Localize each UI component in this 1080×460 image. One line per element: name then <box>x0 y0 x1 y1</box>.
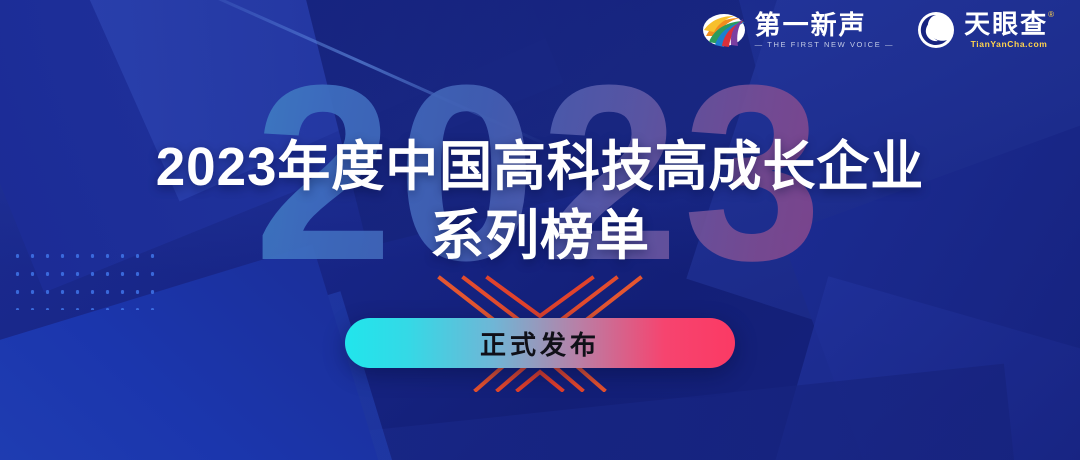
logo-diyixinsheng-name: 第一新声 <box>755 12 894 38</box>
promo-banner: 2023 第一新声 — THE FI <box>0 0 1080 460</box>
release-status-label: 正式发布 <box>480 325 600 362</box>
logo-diyixinsheng-tagline: — THE FIRST NEW VOICE — <box>755 41 894 49</box>
logo-tianyancha[interactable]: 天眼查 ® TianYanCha.com <box>916 10 1054 50</box>
logo-tianyancha-tagline: TianYanCha.com <box>964 40 1054 49</box>
title-line-1: 2023年度中国高科技高成长企业 <box>11 133 1069 202</box>
release-status-button[interactable]: 正式发布 <box>345 318 735 368</box>
tianyancha-eye-icon <box>916 10 956 50</box>
diyixinsheng-swirl-icon <box>701 10 747 50</box>
logo-bar: 第一新声 — THE FIRST NEW VOICE — 天眼查 ® TianY… <box>701 10 1054 50</box>
registered-trademark-icon: ® <box>1048 11 1054 19</box>
title-line-2: 系列榜单 <box>0 202 1080 271</box>
page-title: 2023年度中国高科技高成长企业 系列榜单 <box>0 133 1080 270</box>
logo-diyixinsheng[interactable]: 第一新声 — THE FIRST NEW VOICE — <box>701 10 894 50</box>
logo-tianyancha-name: 天眼查 <box>964 11 1048 37</box>
